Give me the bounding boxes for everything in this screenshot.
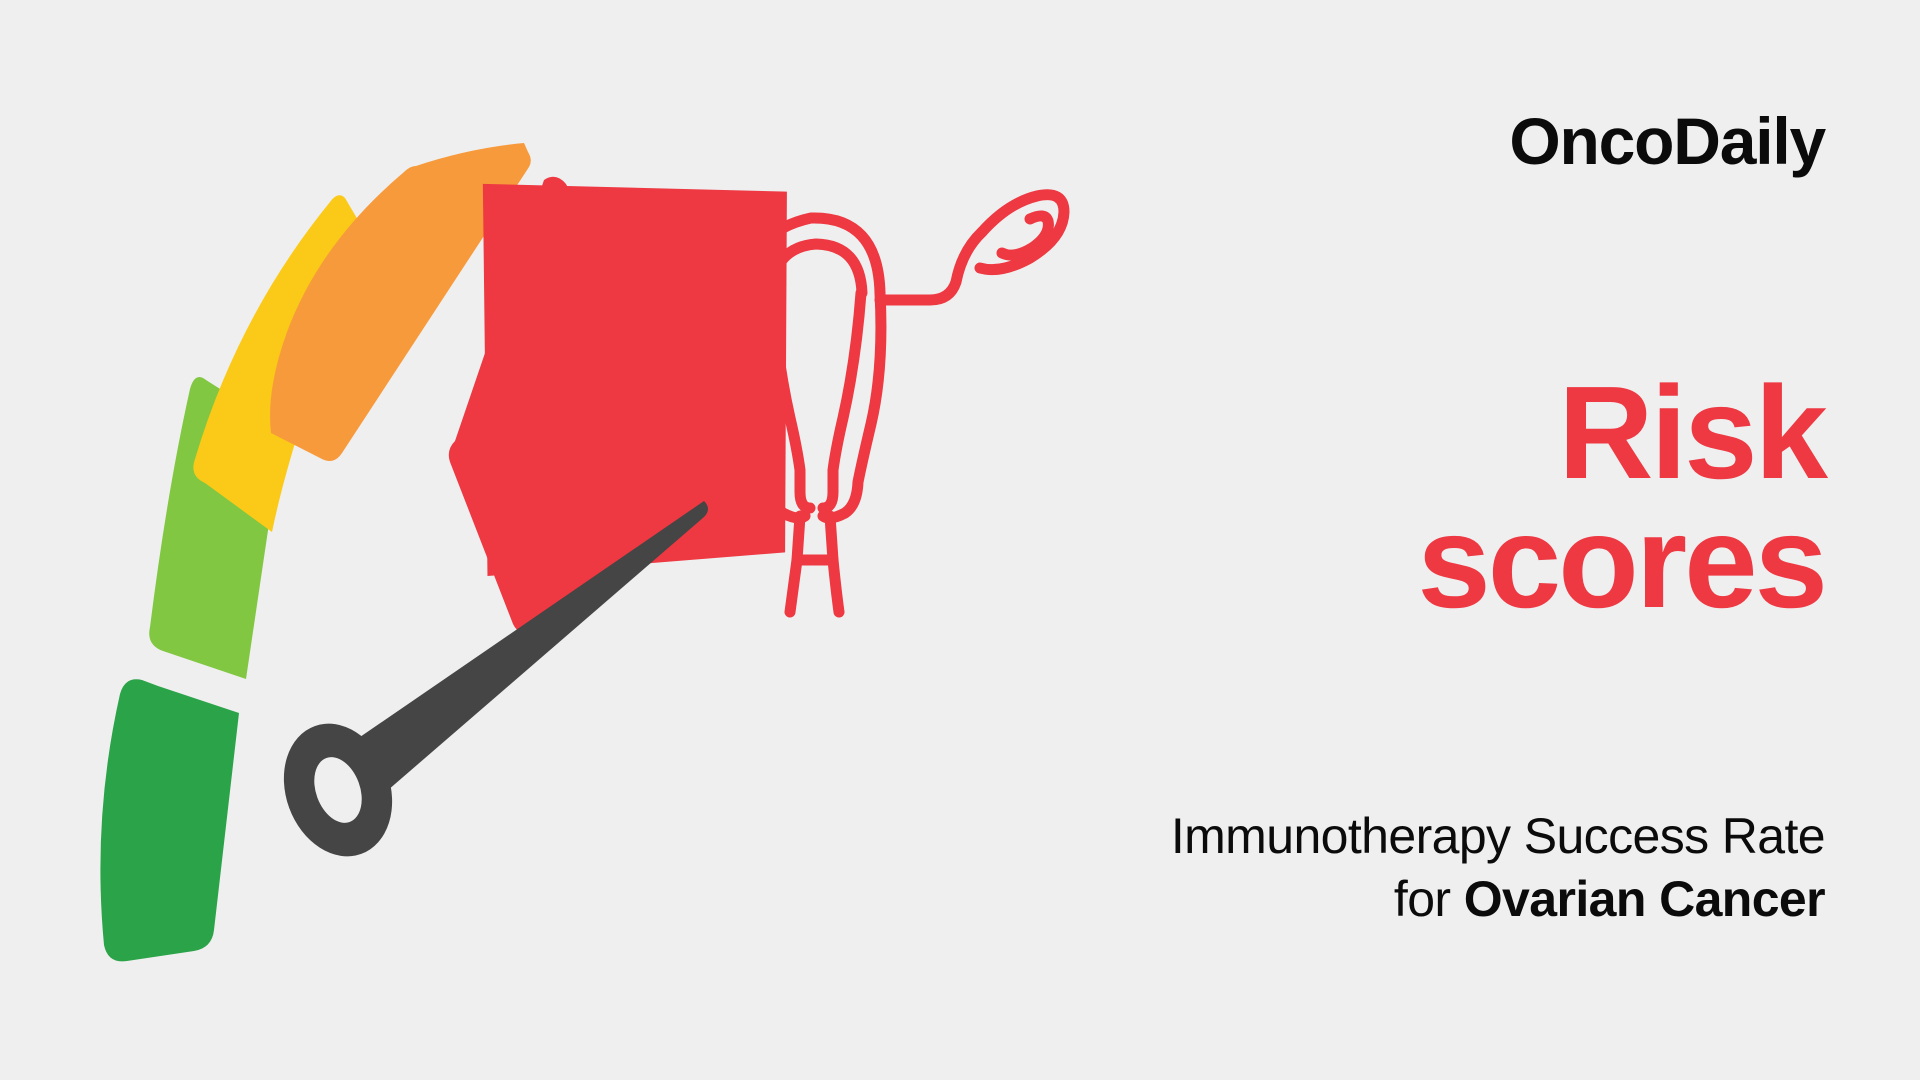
headline-line-2: scores (925, 497, 1825, 626)
subheadline-line-2: for Ovarian Cancer (825, 868, 1825, 931)
headline-line-1: Risk (925, 368, 1825, 497)
subheadline-prefix: for (1394, 871, 1464, 927)
brand-logo-text: OncoDaily (1509, 108, 1825, 174)
subheadline-strong: Ovarian Cancer (1464, 871, 1825, 927)
subheadline: Immunotherapy Success Rate for Ovarian C… (825, 805, 1825, 931)
subheadline-line-1: Immunotherapy Success Rate (825, 805, 1825, 868)
poster-canvas: OncoDaily Risk scores Immunotherapy Succ… (0, 0, 1920, 1080)
headline: Risk scores (925, 368, 1825, 627)
